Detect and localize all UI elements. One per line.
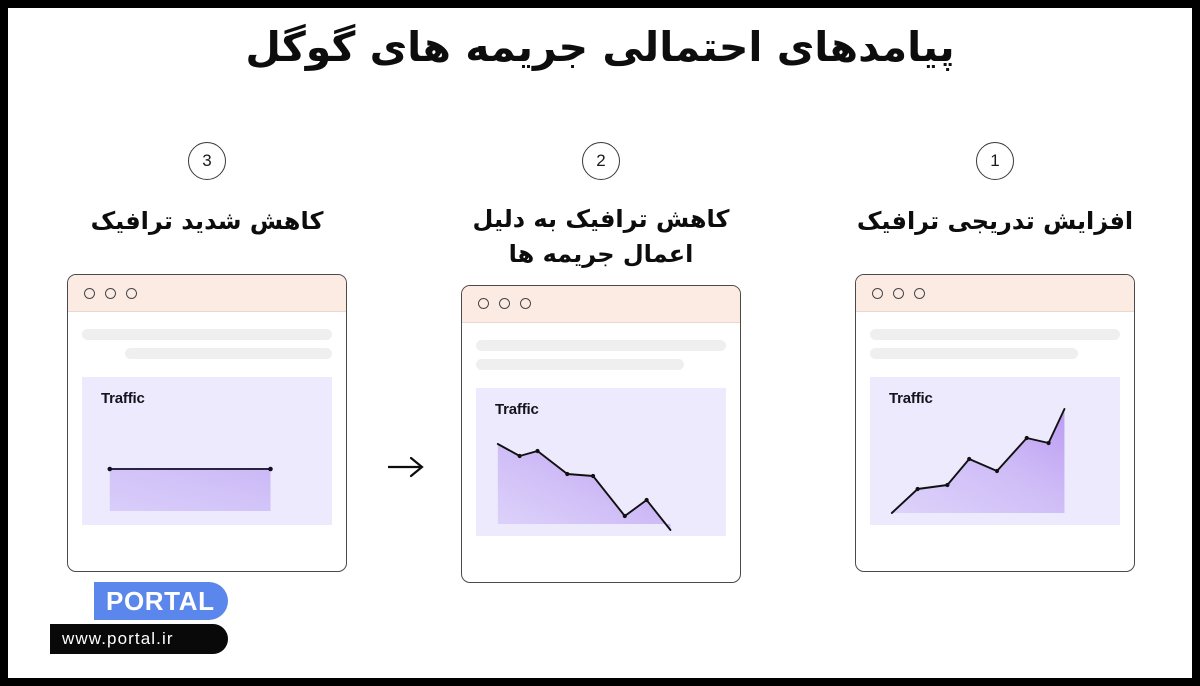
browser-titlebar-1 <box>856 275 1134 312</box>
step-badge-2: 2 <box>582 142 620 180</box>
traffic-chart-panel-3: Traffic <box>82 377 332 525</box>
window-minimize-icon[interactable] <box>105 288 116 299</box>
logo-url-pill[interactable]: www.portal.ir <box>50 624 228 654</box>
step-number-2: 2 <box>596 151 605 171</box>
browser-window-3: Traffic <box>67 274 347 572</box>
window-maximize-icon[interactable] <box>914 288 925 299</box>
flow-arrow-icon <box>386 454 430 480</box>
placeholder-bar <box>476 340 726 351</box>
logo-url-text: www.portal.ir <box>62 629 174 649</box>
browser-titlebar-2 <box>462 286 740 323</box>
window-maximize-icon[interactable] <box>126 288 137 299</box>
area-fill-3 <box>110 469 271 511</box>
chart-title-3: Traffic <box>101 390 145 407</box>
chart-plot-group-2 <box>498 444 671 530</box>
browser-window-2: Traffic <box>461 285 741 583</box>
area-fill-1 <box>892 409 1065 513</box>
step-heading-3: کاهش شدید ترافیک <box>42 204 372 240</box>
page-title: پیامدهای احتمالی جریمه های گوگل <box>8 22 1192 73</box>
placeholder-bar <box>870 329 1120 340</box>
infographic-canvas: پیامدهای احتمالی جریمه های گوگل 1 افزایش… <box>8 8 1192 678</box>
step-number-1: 1 <box>990 151 999 171</box>
window-minimize-icon[interactable] <box>499 298 510 309</box>
site-logo[interactable]: PORTAL www.portal.ir <box>8 582 228 654</box>
step-badge-3: 3 <box>188 142 226 180</box>
step-heading-1: افزایش تدریجی ترافیک <box>830 204 1160 240</box>
steps-row: 1 افزایش تدریجی ترافیک Traffic <box>8 128 1192 598</box>
browser-titlebar-3 <box>68 275 346 312</box>
step-badge-1: 1 <box>976 142 1014 180</box>
window-minimize-icon[interactable] <box>893 288 904 299</box>
step-heading-2: کاهش ترافیک به دلیل اعمال جریمه ها <box>436 202 766 272</box>
chart-plot-group-1 <box>892 409 1065 513</box>
step-number-3: 3 <box>202 151 211 171</box>
window-close-icon[interactable] <box>872 288 883 299</box>
browser-content-2: Traffic <box>462 323 740 536</box>
window-close-icon[interactable] <box>478 298 489 309</box>
step-column-2: 2 کاهش ترافیک به دلیل اعمال جریمه ها Tra… <box>404 128 798 598</box>
card-slot-3: Traffic <box>10 240 404 598</box>
logo-brand-text: PORTAL <box>106 586 215 617</box>
chart-title-1: Traffic <box>889 390 933 407</box>
placeholder-bar <box>870 348 1078 359</box>
browser-content-3: Traffic <box>68 312 346 525</box>
window-maximize-icon[interactable] <box>520 298 531 309</box>
browser-content-1: Traffic <box>856 312 1134 525</box>
step-column-3: 3 کاهش شدید ترافیک Traffic <box>10 128 404 598</box>
card-slot-1: Traffic <box>798 240 1192 598</box>
traffic-chart-panel-2: Traffic <box>476 388 726 536</box>
traffic-chart-panel-1: Traffic <box>870 377 1120 525</box>
chart-plot-group-3 <box>107 467 272 511</box>
area-fill-2 <box>498 444 671 530</box>
placeholder-bar <box>82 329 332 340</box>
browser-window-1: Traffic <box>855 274 1135 572</box>
card-slot-2: Traffic <box>404 272 798 598</box>
logo-brand-pill[interactable]: PORTAL <box>94 582 228 620</box>
placeholder-bar <box>125 348 333 359</box>
step-column-1: 1 افزایش تدریجی ترافیک Traffic <box>798 128 1192 598</box>
window-close-icon[interactable] <box>84 288 95 299</box>
placeholder-bar <box>476 359 684 370</box>
chart-title-2: Traffic <box>495 401 539 418</box>
